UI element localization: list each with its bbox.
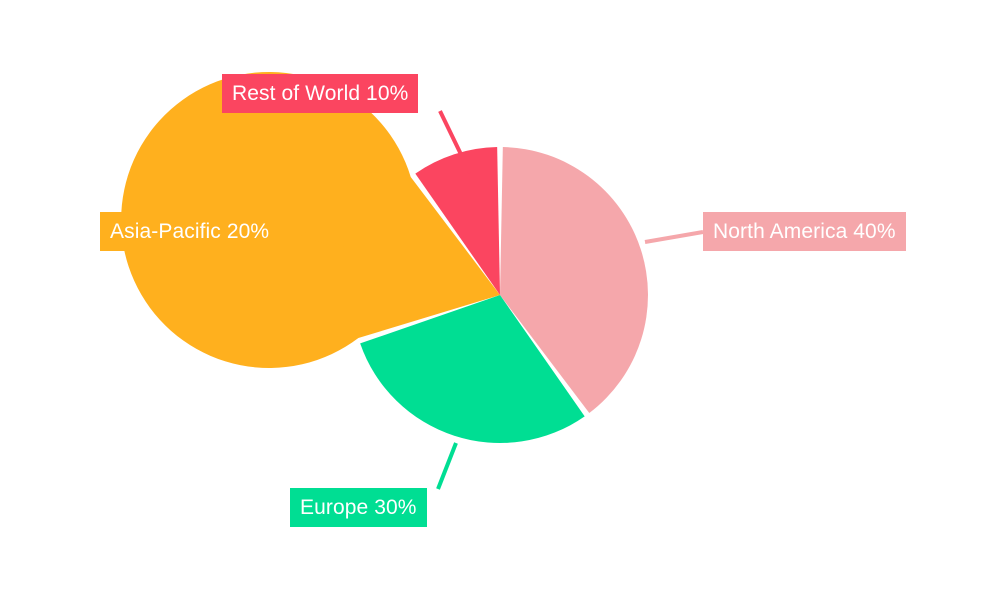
pie-label-europe-text: Europe 30% xyxy=(300,497,417,518)
pie-label-rest-of-world[interactable]: Rest of World 10% xyxy=(222,74,418,113)
leader-line-europe xyxy=(438,443,456,489)
pie-label-europe[interactable]: Europe 30% xyxy=(290,488,427,527)
pie-label-rest-of-world-text: Rest of World 10% xyxy=(232,83,408,104)
pie-label-asia-pacific[interactable]: Asia-Pacific 20% xyxy=(100,212,279,251)
pie-chart-canvas xyxy=(0,0,1000,600)
pie-label-asia-pacific-text: Asia-Pacific 20% xyxy=(110,221,269,242)
pie-chart-figure: North America 40% Asia-Pacific 20% Rest … xyxy=(0,0,1000,600)
leader-line-north-america xyxy=(645,232,703,242)
pie-label-north-america[interactable]: North America 40% xyxy=(703,212,906,251)
pie-label-north-america-text: North America 40% xyxy=(713,221,896,242)
pie-slices-group xyxy=(121,72,648,443)
